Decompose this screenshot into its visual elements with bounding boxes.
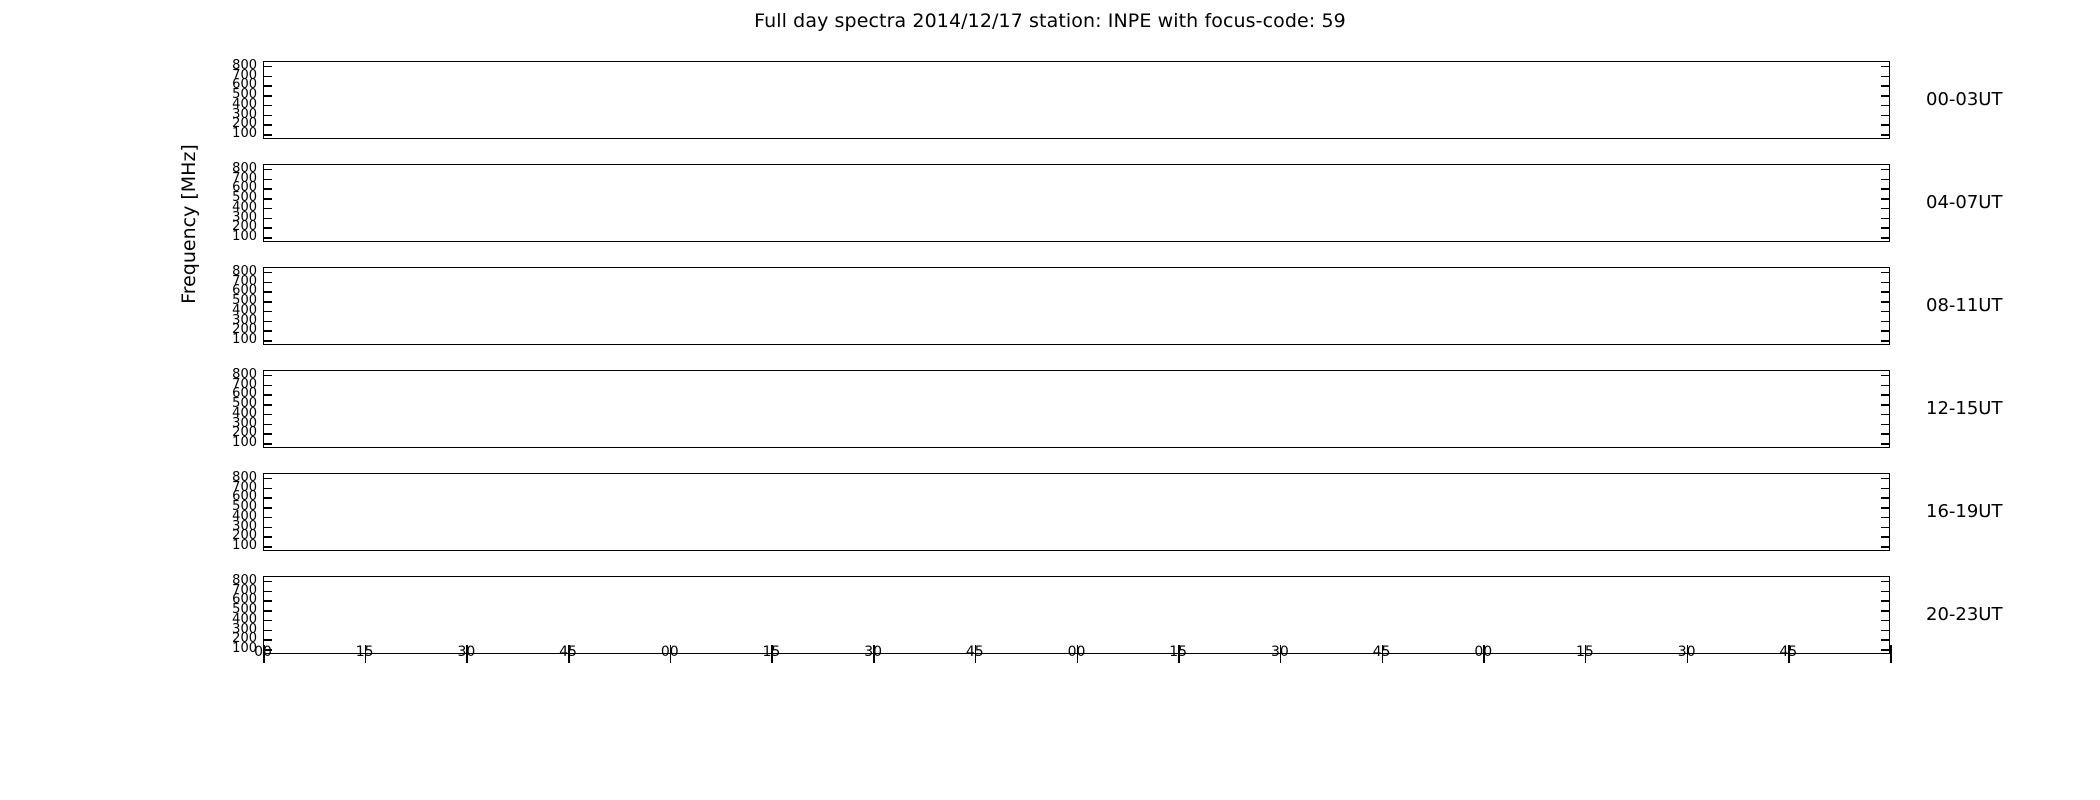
- y-tick-mark: [263, 179, 272, 181]
- y-tick-mark: [1881, 272, 1890, 274]
- y-tick-mark: [263, 124, 272, 126]
- y-tick-mark: [1881, 218, 1890, 220]
- x-tick-mark: [1890, 645, 1892, 663]
- y-tick-mark: [1881, 105, 1890, 107]
- y-tick-label: 100: [205, 642, 257, 655]
- y-tick-mark: [263, 169, 272, 171]
- y-tick-mark: [263, 527, 272, 529]
- axes-frame: [263, 473, 1890, 551]
- y-tick-mark: [1881, 95, 1890, 97]
- y-tick-mark: [263, 385, 272, 387]
- spectrogram-row-00-03ut: [263, 61, 1890, 139]
- y-tick-mark: [1881, 385, 1890, 387]
- y-tick-mark: [263, 272, 272, 274]
- y-tick-mark: [263, 536, 272, 538]
- y-tick-mark: [1881, 394, 1890, 396]
- y-tick-mark: [1881, 639, 1890, 641]
- y-tick-label: 100: [205, 436, 257, 449]
- x-tick-label: 30: [849, 644, 897, 660]
- y-tick-mark: [1881, 433, 1890, 435]
- y-tick-mark: [263, 394, 272, 396]
- row-label-16-19ut: 16-19UT: [1926, 501, 2002, 522]
- y-tick-mark: [263, 340, 272, 342]
- y-tick-mark: [1881, 375, 1890, 377]
- y-tick-mark: [263, 443, 272, 445]
- y-tick-mark: [1881, 610, 1890, 612]
- y-tick-mark: [1881, 76, 1890, 78]
- y-tick-mark: [1881, 291, 1890, 293]
- x-tick-label: 30: [442, 644, 490, 660]
- y-tick-mark: [263, 227, 272, 229]
- y-tick-mark: [263, 115, 272, 117]
- y-tick-mark: [263, 497, 272, 499]
- x-tick-label: 15: [1154, 644, 1202, 660]
- y-tick-mark: [1881, 536, 1890, 538]
- x-tick-label: 15: [341, 644, 389, 660]
- x-tick-label: 45: [951, 644, 999, 660]
- y-tick-mark: [263, 517, 272, 519]
- y-tick-mark: [263, 311, 272, 313]
- y-tick-mark: [1881, 66, 1890, 68]
- y-tick-mark: [1881, 124, 1890, 126]
- y-tick-mark: [263, 95, 272, 97]
- x-tick-label: 30: [1256, 644, 1304, 660]
- axes-frame: [263, 164, 1890, 242]
- x-tick-label: 15: [1561, 644, 1609, 660]
- y-tick-mark: [263, 424, 272, 426]
- axes-frame: [263, 267, 1890, 345]
- spectrogram-row-04-07ut: [263, 164, 1890, 242]
- y-tick-mark: [263, 433, 272, 435]
- y-tick-mark: [1881, 404, 1890, 406]
- row-label-20-23ut: 20-23UT: [1926, 604, 2002, 625]
- y-tick-mark: [263, 488, 272, 490]
- y-tick-mark: [263, 66, 272, 68]
- x-tick-label: 45: [544, 644, 592, 660]
- x-tick-label: 00: [1053, 644, 1101, 660]
- y-tick-mark: [263, 301, 272, 303]
- spectrogram-row-12-15ut: [263, 370, 1890, 448]
- axes-frame: [263, 370, 1890, 448]
- y-tick-mark: [263, 507, 272, 509]
- y-tick-mark: [1881, 340, 1890, 342]
- y-tick-mark: [1881, 497, 1890, 499]
- y-tick-mark: [1881, 321, 1890, 323]
- y-tick-mark: [263, 375, 272, 377]
- y-tick-mark: [263, 478, 272, 480]
- x-tick-label: 00: [1459, 644, 1507, 660]
- y-tick-mark: [1881, 527, 1890, 529]
- row-label-04-07ut: 04-07UT: [1926, 192, 2002, 213]
- y-tick-label: 100: [205, 333, 257, 346]
- y-tick-mark: [263, 134, 272, 136]
- y-tick-mark: [1881, 179, 1890, 181]
- y-tick-mark: [263, 321, 272, 323]
- y-tick-mark: [1881, 488, 1890, 490]
- y-tick-mark: [1881, 630, 1890, 632]
- y-tick-mark: [263, 581, 272, 583]
- row-label-00-03ut: 00-03UT: [1926, 89, 2002, 110]
- y-tick-mark: [263, 639, 272, 641]
- y-tick-mark: [1881, 620, 1890, 622]
- y-tick-label: 100: [205, 539, 257, 552]
- y-tick-mark: [263, 105, 272, 107]
- y-tick-mark: [263, 198, 272, 200]
- spectrogram-row-16-19ut: [263, 473, 1890, 551]
- y-tick-mark: [263, 218, 272, 220]
- y-tick-mark: [263, 610, 272, 612]
- x-tick-label: 15: [747, 644, 795, 660]
- y-tick-mark: [1881, 198, 1890, 200]
- y-tick-mark: [1881, 208, 1890, 210]
- y-tick-mark: [1881, 227, 1890, 229]
- y-tick-mark: [263, 546, 272, 548]
- y-tick-mark: [1881, 478, 1890, 480]
- y-tick-mark: [1881, 517, 1890, 519]
- page-title: Full day spectra 2014/12/17 station: INP…: [0, 10, 2100, 32]
- y-tick-mark: [1881, 330, 1890, 332]
- y-tick-mark: [263, 600, 272, 602]
- y-tick-mark: [263, 404, 272, 406]
- x-tick-label: 30: [1663, 644, 1711, 660]
- row-label-12-15ut: 12-15UT: [1926, 398, 2002, 419]
- y-tick-mark: [1881, 237, 1890, 239]
- y-tick-mark: [1881, 424, 1890, 426]
- y-tick-mark: [1881, 115, 1890, 117]
- y-tick-label: 100: [205, 230, 257, 243]
- x-tick-label: 45: [1358, 644, 1406, 660]
- x-tick-label: 45: [1764, 644, 1812, 660]
- y-tick-mark: [1881, 311, 1890, 313]
- y-tick-mark: [263, 237, 272, 239]
- y-tick-label: 100: [205, 127, 257, 140]
- y-tick-mark: [1881, 581, 1890, 583]
- y-tick-mark: [263, 282, 272, 284]
- y-tick-mark: [1881, 85, 1890, 87]
- y-tick-mark: [1881, 188, 1890, 190]
- spectrogram-row-08-11ut: [263, 267, 1890, 345]
- y-tick-mark: [263, 330, 272, 332]
- y-tick-mark: [1881, 414, 1890, 416]
- y-tick-mark: [1881, 301, 1890, 303]
- y-tick-mark: [1881, 443, 1890, 445]
- y-tick-mark: [263, 630, 272, 632]
- y-tick-mark: [263, 188, 272, 190]
- spectrogram-figure: Full day spectra 2014/12/17 station: INP…: [0, 0, 2100, 800]
- y-tick-mark: [263, 620, 272, 622]
- y-tick-mark: [1881, 600, 1890, 602]
- y-axis-label: Frequency [MHz]: [178, 114, 200, 334]
- y-tick-mark: [263, 208, 272, 210]
- y-tick-mark: [263, 85, 272, 87]
- y-tick-mark: [1881, 591, 1890, 593]
- y-tick-mark: [1881, 169, 1890, 171]
- y-tick-mark: [1881, 649, 1890, 651]
- y-tick-mark: [1881, 507, 1890, 509]
- spectrogram-row-20-23ut: [263, 576, 1890, 654]
- row-label-08-11ut: 08-11UT: [1926, 295, 2002, 316]
- axes-frame: [263, 576, 1890, 654]
- y-tick-mark: [1881, 134, 1890, 136]
- y-tick-mark: [1881, 282, 1890, 284]
- y-tick-mark: [263, 76, 272, 78]
- y-tick-mark: [263, 291, 272, 293]
- y-tick-mark: [1881, 546, 1890, 548]
- x-tick-label: 00: [646, 644, 694, 660]
- y-tick-mark: [263, 591, 272, 593]
- axes-frame: [263, 61, 1890, 139]
- y-tick-mark: [263, 414, 272, 416]
